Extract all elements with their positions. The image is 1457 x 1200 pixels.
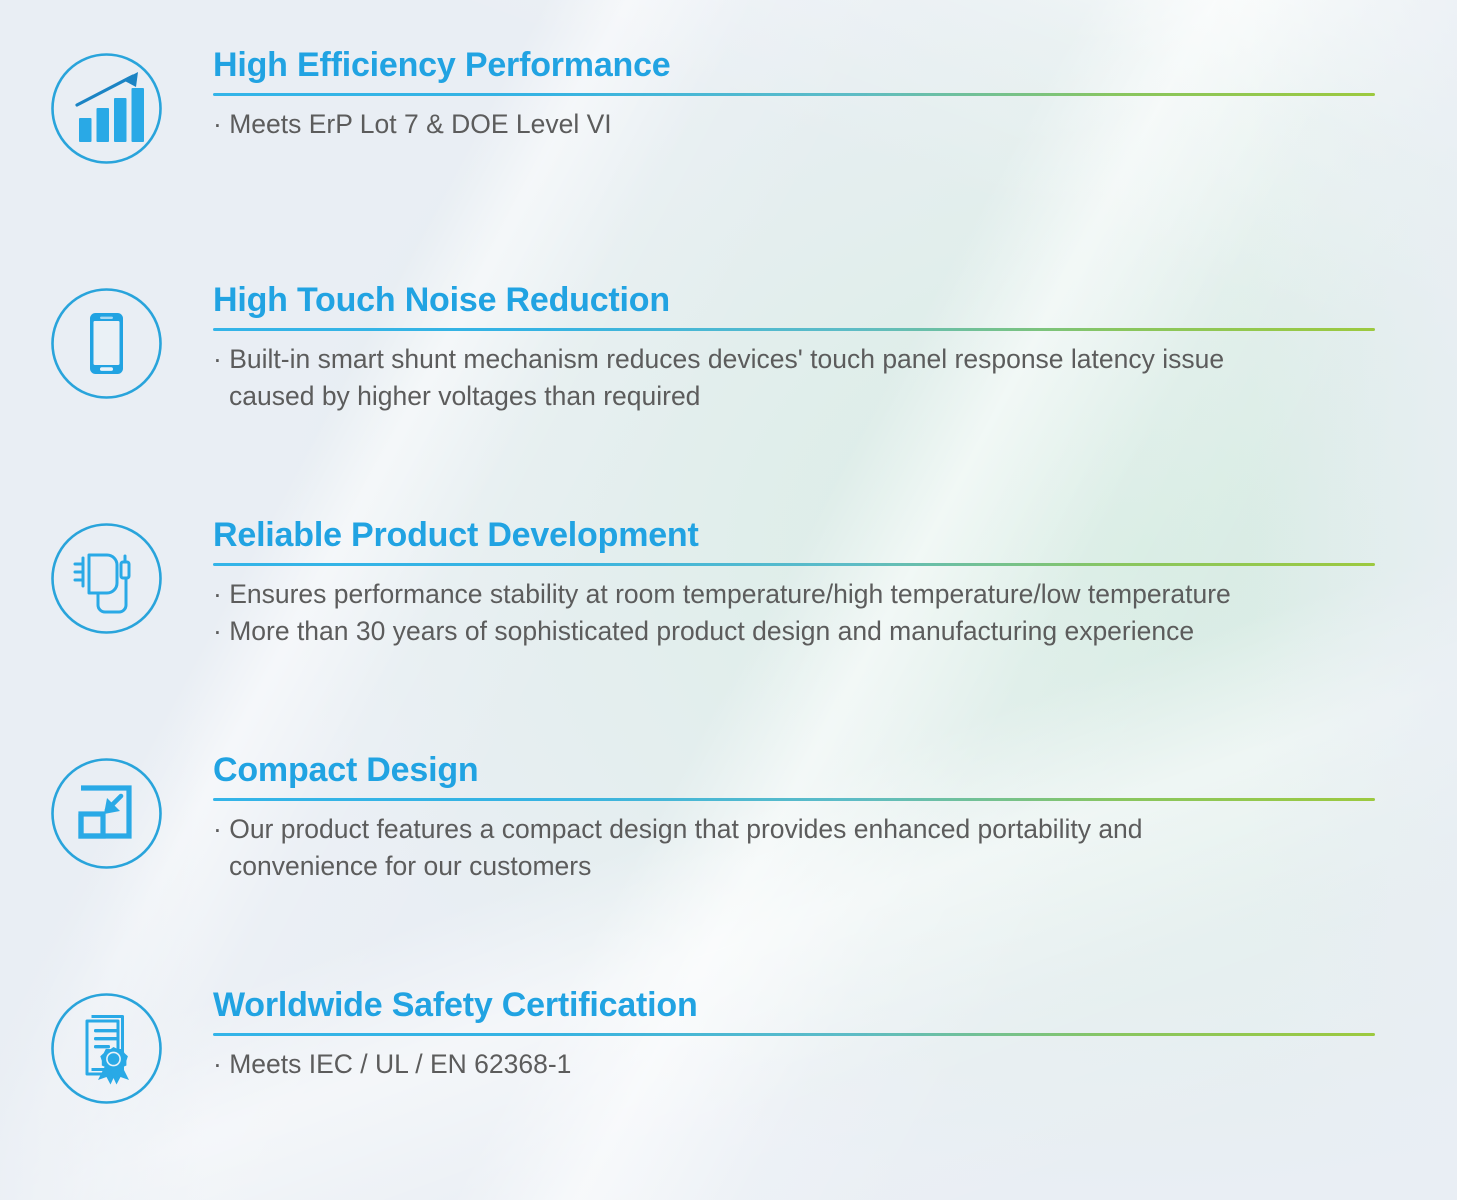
bullet-marker: · <box>213 109 222 139</box>
bullet-text: Built-in smart shunt mechanism reduces d… <box>229 344 1224 374</box>
feature-item-high-efficiency-performance: High Efficiency Performance · Meets ErP … <box>0 48 1457 165</box>
feature-bullet-continuation: convenience for our customers <box>213 848 1375 885</box>
feature-item-high-touch-noise-reduction: High Touch Noise Reduction · Built-in sm… <box>0 283 1457 415</box>
feature-text-cell: High Touch Noise Reduction · Built-in sm… <box>213 283 1457 415</box>
bullet-text: Our product features a compact design th… <box>229 814 1142 844</box>
feature-icon-cell <box>0 48 213 165</box>
feature-divider <box>213 798 1375 801</box>
bullet-marker: · <box>213 814 222 844</box>
feature-text-cell: Compact Design · Our product features a … <box>213 753 1457 885</box>
feature-title: High Efficiency Performance <box>213 48 1375 84</box>
feature-text-cell: Reliable Product Development · Ensures p… <box>213 518 1457 650</box>
feature-description: · Meets ErP Lot 7 & DOE Level VI <box>213 106 1375 143</box>
feature-divider <box>213 93 1375 96</box>
feature-divider <box>213 328 1375 331</box>
bullet-text: caused by higher voltages than required <box>213 378 700 415</box>
bullet-marker: · <box>213 579 222 609</box>
bullet-marker: · <box>213 1049 222 1079</box>
compact-resize-icon <box>50 757 163 870</box>
feature-icon-cell <box>0 753 213 870</box>
feature-description: · Our product features a compact design … <box>213 811 1375 885</box>
feature-title: Worldwide Safety Certification <box>213 988 1375 1024</box>
feature-item-compact-design: Compact Design · Our product features a … <box>0 753 1457 885</box>
feature-divider <box>213 1033 1375 1036</box>
feature-description: · Meets IEC / UL / EN 62368-1 <box>213 1046 1375 1083</box>
bullet-marker: · <box>213 616 222 646</box>
feature-item-reliable-product-development: Reliable Product Development · Ensures p… <box>0 518 1457 650</box>
feature-bullet-continuation: caused by higher voltages than required <box>213 378 1375 415</box>
feature-bullet: · Our product features a compact design … <box>213 811 1375 848</box>
feature-bullet: · Meets ErP Lot 7 & DOE Level VI <box>213 106 1375 143</box>
bullet-text: More than 30 years of sophisticated prod… <box>229 616 1194 646</box>
power-adapter-icon <box>50 522 163 635</box>
bullet-text: Ensures performance stability at room te… <box>229 579 1231 609</box>
feature-title: High Touch Noise Reduction <box>213 283 1375 319</box>
feature-item-worldwide-safety-certification: Worldwide Safety Certification · Meets I… <box>0 988 1457 1105</box>
feature-description: · Built-in smart shunt mechanism reduces… <box>213 341 1375 415</box>
smartphone-icon <box>50 287 163 400</box>
bullet-text: convenience for our customers <box>213 848 591 885</box>
feature-text-cell: High Efficiency Performance · Meets ErP … <box>213 48 1457 143</box>
bullet-text: Meets ErP Lot 7 & DOE Level VI <box>229 109 611 139</box>
feature-icon-cell <box>0 988 213 1105</box>
feature-icon-cell <box>0 283 213 400</box>
bullet-text: Meets IEC / UL / EN 62368-1 <box>229 1049 571 1079</box>
feature-bullet: · Built-in smart shunt mechanism reduces… <box>213 341 1375 378</box>
certificate-award-icon <box>50 992 163 1105</box>
feature-icon-cell <box>0 518 213 635</box>
feature-text-cell: Worldwide Safety Certification · Meets I… <box>213 988 1457 1083</box>
feature-title: Compact Design <box>213 753 1375 789</box>
feature-highlights-page: High Efficiency Performance · Meets ErP … <box>0 0 1457 1200</box>
feature-bullet: · Ensures performance stability at room … <box>213 576 1375 613</box>
bar-chart-growth-icon <box>50 52 163 165</box>
feature-description: · Ensures performance stability at room … <box>213 576 1375 650</box>
bullet-marker: · <box>213 344 222 374</box>
feature-bullet: · More than 30 years of sophisticated pr… <box>213 613 1375 650</box>
feature-divider <box>213 563 1375 566</box>
feature-title: Reliable Product Development <box>213 518 1375 554</box>
feature-bullet: · Meets IEC / UL / EN 62368-1 <box>213 1046 1375 1083</box>
